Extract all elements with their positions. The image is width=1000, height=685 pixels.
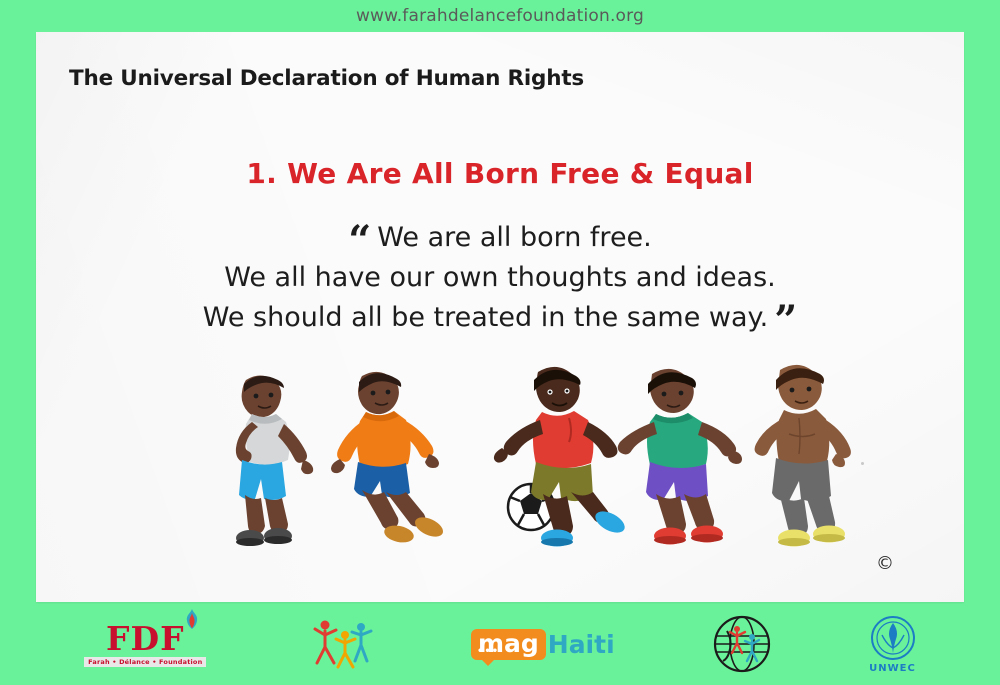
site-url: www.farahdelancefoundation.org [0, 6, 1000, 26]
globe-figures-icon [711, 613, 773, 675]
unwec-logo-text: UNWEC [869, 663, 916, 674]
footer-logos: FDF Farah • Délance • Foundation [36, 608, 964, 680]
illustration-children-playing [186, 362, 886, 577]
mag-haiti-logo[interactable]: mag ••• Haiti [471, 611, 615, 677]
quote-open-mark: “ [348, 217, 371, 264]
haiti-text: Haiti [548, 630, 615, 659]
child-figure-2 [331, 372, 446, 545]
quote-block: “We are all born free. We all have our o… [36, 218, 964, 338]
mag-haiti-badge: mag ••• [471, 629, 546, 660]
dancing-figures-icon [303, 613, 375, 675]
article-heading: 1. We Are All Born Free & Equal [36, 157, 964, 190]
mag-dots-icon: ••• [477, 647, 499, 657]
poster-card: The Universal Declaration of Human Right… [36, 32, 964, 602]
page-title: The Universal Declaration of Human Right… [69, 66, 584, 91]
quote-line-1: “We are all born free. [36, 218, 964, 258]
dancing-figures-logo[interactable] [303, 611, 375, 677]
quote-line-2: We all have our own thoughts and ideas. [36, 258, 964, 298]
quote-line-3: We should all be treated in the same way… [36, 298, 964, 338]
unwec-icon [870, 615, 916, 661]
child-figure-4 [618, 369, 742, 545]
flame-icon [184, 609, 200, 629]
child-figure-1 [236, 375, 313, 546]
fdf-logo-text: FDF [106, 622, 184, 655]
quote-text-1: We are all born free. [377, 222, 651, 253]
fdf-logo[interactable]: FDF Farah • Délance • Foundation [84, 611, 206, 677]
quote-text-3: We should all be treated in the same way… [203, 302, 769, 333]
unwec-logo[interactable]: UNWEC [869, 611, 916, 677]
globe-figures-logo[interactable] [711, 611, 773, 677]
fdf-logo-subtitle: Farah • Délance • Foundation [84, 657, 206, 667]
quote-close-mark: ” [774, 297, 797, 344]
child-figure-5 [755, 365, 851, 547]
poster-root: www.farahdelancefoundation.org The Unive… [0, 0, 1000, 685]
copyright-icon: © [876, 553, 894, 574]
